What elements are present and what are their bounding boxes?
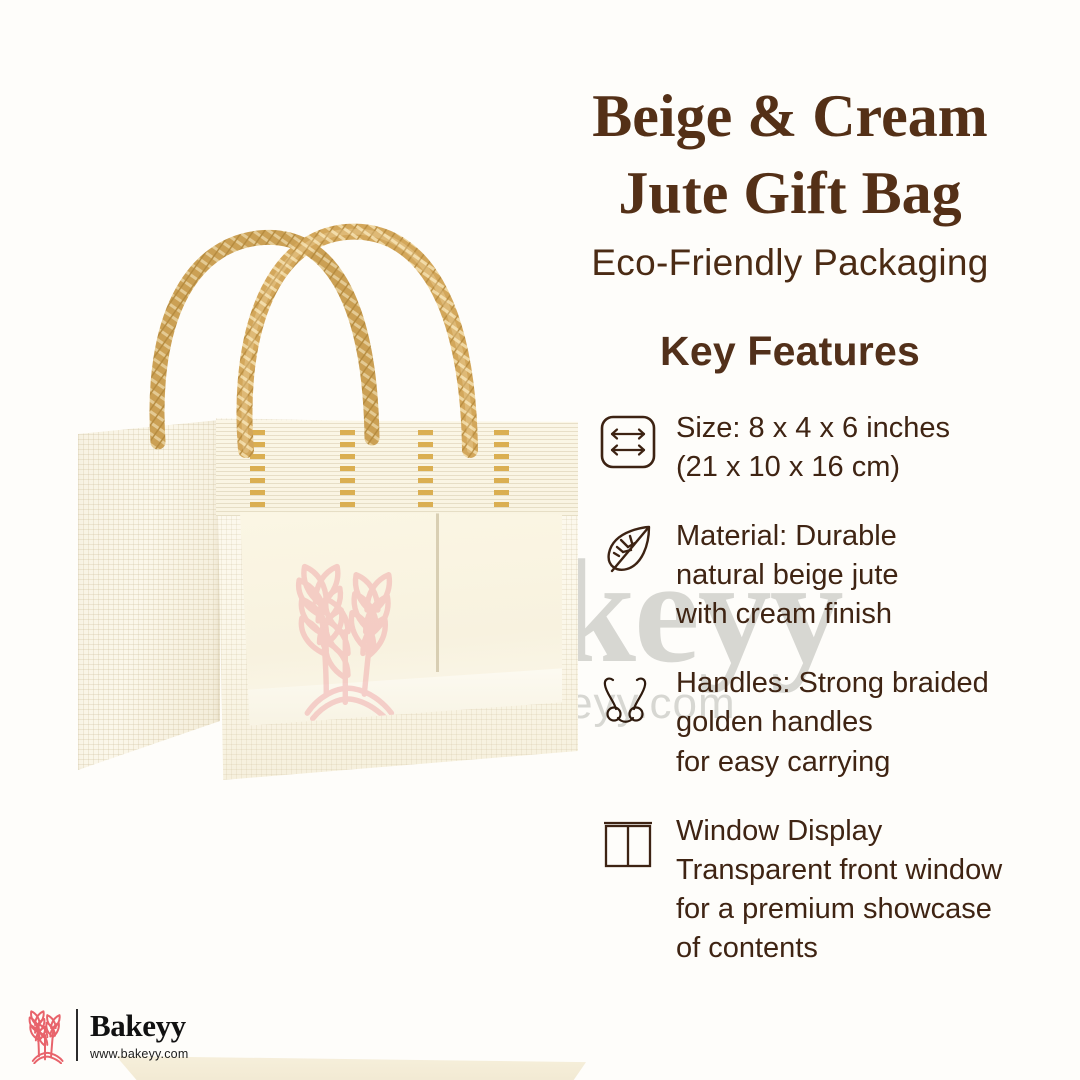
feature-item-handles: Handles: Strong braided golden handles f… xyxy=(590,662,1068,781)
feature-line: Size: 8 x 4 x 6 inches xyxy=(676,409,950,448)
key-features-heading: Key Features xyxy=(512,328,1068,375)
title-line-1: Beige & Cream xyxy=(512,78,1068,155)
page-subtitle: Eco-Friendly Packaging xyxy=(512,242,1068,284)
feature-line: for easy carrying xyxy=(676,743,989,782)
logo-text-group: Bakeyy www.bakeyy.com xyxy=(90,1010,188,1061)
feature-item-window: Window Display Transparent front window … xyxy=(590,810,1068,969)
feature-line: (21 x 10 x 16 cm) xyxy=(676,448,950,487)
info-panel: Beige & Cream Jute Gift Bag Eco-Friendly… xyxy=(512,78,1068,996)
feature-line: natural beige jute xyxy=(676,556,899,595)
bag-side-panel xyxy=(78,420,220,770)
feature-item-material: Material: Durable natural beige jute wit… xyxy=(590,515,1068,634)
leaf-icon xyxy=(590,515,666,595)
feature-text-size: Size: 8 x 4 x 6 inches (21 x 10 x 16 cm) xyxy=(666,407,950,487)
logo-website: www.bakeyy.com xyxy=(90,1047,188,1061)
logo-brand-name: Bakeyy xyxy=(90,1010,188,1041)
feature-text-material: Material: Durable natural beige jute wit… xyxy=(666,515,899,634)
wheat-print-watermark xyxy=(264,534,432,724)
feature-text-window: Window Display Transparent front window … xyxy=(666,810,1002,969)
logo-divider xyxy=(76,1009,78,1061)
bag-interior-corner xyxy=(436,512,439,672)
bag-body xyxy=(78,420,578,790)
feature-line: Handles: Strong braided xyxy=(676,664,989,703)
poster-canvas: Bakeyy www.bakeyy.com xyxy=(0,0,1080,1080)
title-line-2: Jute Gift Bag xyxy=(512,155,1068,232)
feature-text-handles: Handles: Strong braided golden handles f… xyxy=(666,662,989,781)
window-icon xyxy=(590,810,666,890)
feature-line: golden handles xyxy=(676,703,989,742)
wheat-stalks-icon xyxy=(22,1006,68,1064)
size-arrows-icon xyxy=(590,407,666,487)
footer-brand-logo[interactable]: Bakeyy www.bakeyy.com xyxy=(22,1006,188,1064)
feature-list: Size: 8 x 4 x 6 inches (21 x 10 x 16 cm) xyxy=(512,407,1068,969)
feature-line: Material: Durable xyxy=(676,517,899,556)
feature-line: Transparent front window xyxy=(676,851,1002,890)
feature-line: Window Display xyxy=(676,812,1002,851)
feature-line: with cream finish xyxy=(676,595,899,634)
feature-line: for a premium showcase xyxy=(676,890,1002,929)
page-title: Beige & Cream Jute Gift Bag xyxy=(512,78,1068,232)
feature-item-size: Size: 8 x 4 x 6 inches (21 x 10 x 16 cm) xyxy=(590,407,1068,487)
feature-line: of contents xyxy=(676,929,1002,968)
handles-icon xyxy=(590,662,666,742)
